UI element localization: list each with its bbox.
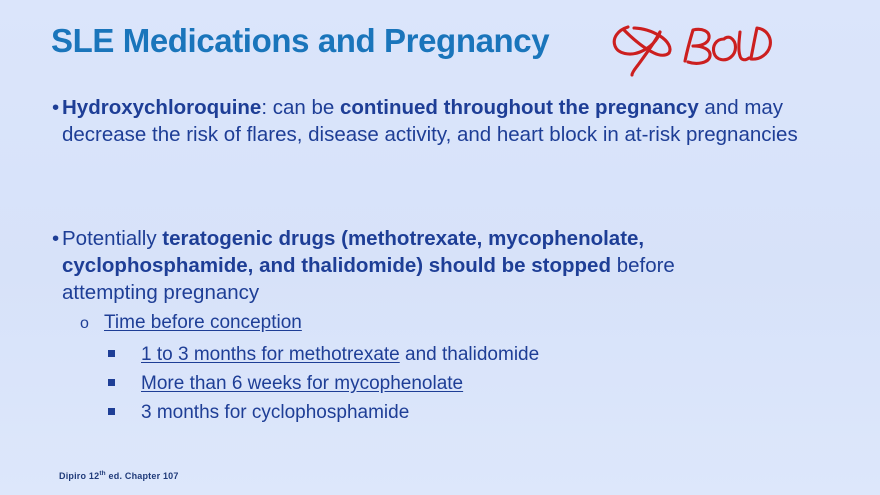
list-item-underlined-text: 1 to 3 months for methotrexate xyxy=(141,344,400,365)
sub-bullet-time-before-conception: oTime before conception xyxy=(80,310,302,337)
bullet-marker-1: • xyxy=(52,94,59,121)
bullet-1-bold-1: continued throughout the pregnancy xyxy=(340,96,699,119)
list-item-underlined-text: More than 6 weeks for mycophenolate xyxy=(141,373,463,394)
bullet-marker-2: • xyxy=(52,225,59,252)
bullet-text-1: Hydroxychloroquine: can be continued thr… xyxy=(52,94,842,148)
footer-citation: Dipiro 12th ed. Chapter 107 xyxy=(59,470,179,481)
footer-source-tail: ed. Chapter 107 xyxy=(106,471,179,481)
list-item: 3 months for cyclophosphamide xyxy=(108,400,409,426)
letter-l xyxy=(739,32,749,60)
letter-b xyxy=(685,29,710,63)
bullet-2-lead-plain: Potentially xyxy=(62,227,162,250)
bullet-text-2: Potentially teratogenic drugs (methotrex… xyxy=(52,225,772,306)
footer-source: Dipiro 12 xyxy=(59,471,99,481)
page-title: SLE Medications and Pregnancy xyxy=(51,22,549,60)
bullet-item-1: • Hydroxychloroquine: can be continued t… xyxy=(52,94,842,148)
star-scribble-stroke-2 xyxy=(632,32,660,75)
slide-canvas: SLE Medications and Pregnancy • Hy xyxy=(0,0,880,495)
letter-d xyxy=(751,28,770,59)
list-item: 1 to 3 months for methotrexate and thali… xyxy=(108,342,539,368)
square-bullet-icon xyxy=(108,342,141,368)
bullet-1-segment-1: : can be xyxy=(261,96,340,119)
list-item: More than 6 weeks for mycophenolate xyxy=(108,371,463,397)
letter-o xyxy=(713,37,735,60)
square-bullet-icon xyxy=(108,371,141,397)
list-item-plain-text: and thalidomide xyxy=(400,344,539,365)
sub-bullet-label: Time before conception xyxy=(104,312,302,333)
star-scribble-stroke-4 xyxy=(634,28,670,53)
star-scribble-stroke-1 xyxy=(614,27,660,54)
handwritten-annotation xyxy=(598,8,773,78)
circle-bullet-icon: o xyxy=(80,311,104,337)
list-item-plain-text: 3 months for cyclophosphamide xyxy=(141,402,409,423)
bullet-item-2: • Potentially teratogenic drugs (methotr… xyxy=(52,225,772,306)
star-scribble-stroke-3 xyxy=(624,30,669,55)
square-bullet-icon xyxy=(108,400,141,426)
bullet-1-lead-bold: Hydroxychloroquine xyxy=(62,96,261,119)
